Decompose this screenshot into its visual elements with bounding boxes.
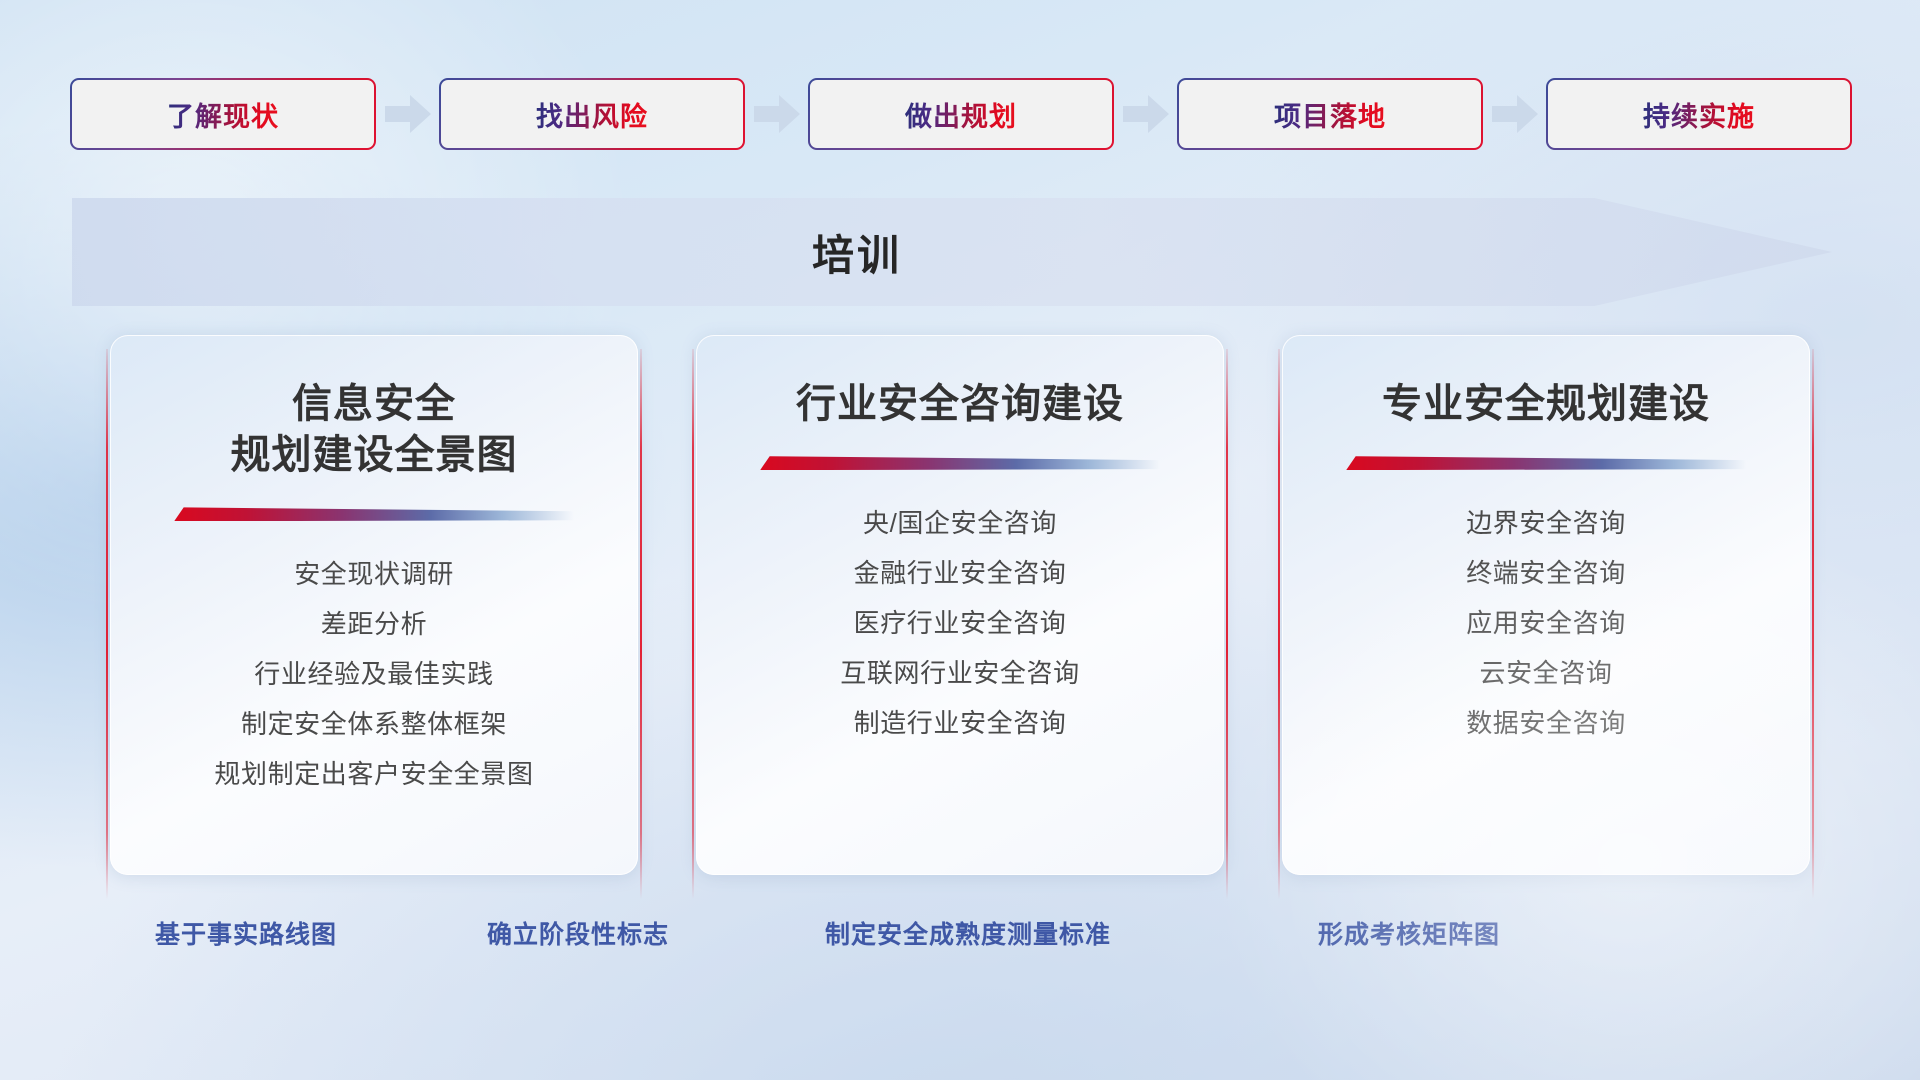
arrow-right-icon	[376, 94, 439, 134]
card-edge-left	[106, 349, 108, 899]
list-item: 医疗行业安全咨询	[854, 604, 1067, 643]
card-edge-left	[692, 349, 694, 899]
card-divider	[760, 456, 1160, 470]
card-list: 央/国企安全咨询 金融行业安全咨询 医疗行业安全咨询 互联网行业安全咨询 制造行…	[840, 504, 1079, 743]
arrow-right-icon	[745, 94, 808, 134]
list-item: 互联网行业安全咨询	[840, 654, 1079, 693]
caption-3: 制定安全成熟度测量标准	[825, 915, 1111, 951]
caption-1: 基于事实路线图	[155, 915, 337, 951]
card-industry-security-consulting[interactable]: 行业安全咨询建设 央/国企安全咨询 金融行业安全咨询 医疗行业安全咨询 互联网行…	[696, 335, 1224, 875]
list-item: 行业经验及最佳实践	[254, 655, 493, 694]
list-item: 差距分析	[321, 605, 427, 644]
caption-row: 基于事实路线图 确立阶段性标志 制定安全成熟度测量标准 形成考核矩阵图	[0, 915, 1920, 961]
card-professional-security-planning[interactable]: 专业安全规划建设 边界安全咨询 终端安全咨询 应用安全咨询 云安全咨询 数据安全…	[1282, 335, 1810, 875]
card-row: 信息安全 规划建设全景图 安全现状调研 差距分析 行业经验及最佳实践 制定安全体…	[110, 335, 1810, 875]
list-item: 制造行业安全咨询	[854, 704, 1067, 743]
step-label: 了解现状	[167, 95, 279, 134]
step-label: 项目落地	[1274, 95, 1386, 134]
training-banner: 培训	[72, 198, 1832, 306]
card-title: 行业安全咨询建设	[796, 379, 1124, 430]
step-box-5[interactable]: 持续实施	[1546, 78, 1852, 150]
banner-title: 培训	[72, 198, 1642, 306]
slide-canvas: 了解现状 找出风险 做出规划 项目落地	[0, 0, 1920, 1080]
card-divider	[174, 507, 574, 521]
arrow-right-icon	[1114, 94, 1177, 134]
card-title: 信息安全 规划建设全景图	[231, 379, 518, 481]
card-information-security-panorama[interactable]: 信息安全 规划建设全景图 安全现状调研 差距分析 行业经验及最佳实践 制定安全体…	[110, 335, 638, 875]
list-item: 央/国企安全咨询	[863, 504, 1057, 543]
step-box-1[interactable]: 了解现状	[70, 78, 376, 150]
card-list: 边界安全咨询 终端安全咨询 应用安全咨询 云安全咨询 数据安全咨询	[1466, 504, 1626, 743]
list-item: 金融行业安全咨询	[854, 554, 1067, 593]
list-item: 终端安全咨询	[1466, 554, 1626, 593]
step-label: 做出规划	[905, 95, 1017, 134]
process-step-row: 了解现状 找出风险 做出规划 项目落地	[70, 78, 1852, 150]
list-item: 规划制定出客户安全全景图	[214, 755, 533, 794]
card-edge-right	[1812, 349, 1814, 899]
list-item: 应用安全咨询	[1466, 604, 1626, 643]
step-box-4[interactable]: 项目落地	[1177, 78, 1483, 150]
step-box-2[interactable]: 找出风险	[439, 78, 745, 150]
arrow-right-icon	[1483, 94, 1546, 134]
card-title: 专业安全规划建设	[1382, 379, 1710, 430]
card-edge-right	[1226, 349, 1228, 899]
card-edge-right	[640, 349, 642, 899]
step-box-3[interactable]: 做出规划	[808, 78, 1114, 150]
caption-2: 确立阶段性标志	[487, 915, 669, 951]
caption-4: 形成考核矩阵图	[1318, 915, 1500, 951]
card-edge-left	[1278, 349, 1280, 899]
step-label: 找出风险	[536, 95, 648, 134]
list-item: 云安全咨询	[1479, 654, 1612, 693]
step-label: 持续实施	[1643, 95, 1755, 134]
list-item: 制定安全体系整体框架	[241, 705, 507, 744]
list-item: 数据安全咨询	[1466, 704, 1626, 743]
card-list: 安全现状调研 差距分析 行业经验及最佳实践 制定安全体系整体框架 规划制定出客户…	[214, 555, 533, 794]
list-item: 安全现状调研	[294, 555, 454, 594]
list-item: 边界安全咨询	[1466, 504, 1626, 543]
card-divider	[1346, 456, 1746, 470]
